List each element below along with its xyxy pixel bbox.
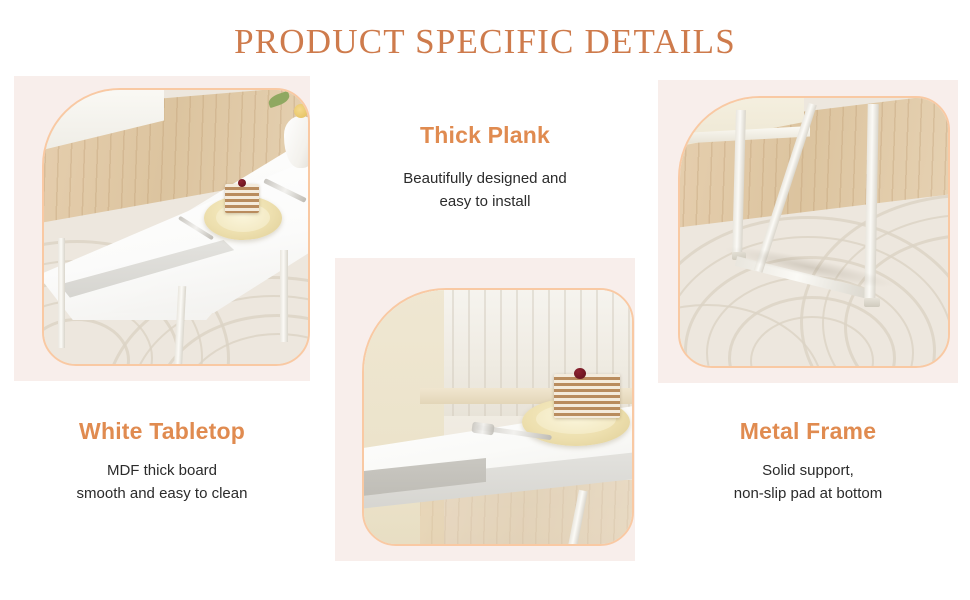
caption-body-line2: non-slip pad at bottom [734, 485, 882, 502]
caption-body-white-tabletop: MDF thick board smooth and easy to clean [14, 459, 310, 505]
caption-heading-thick-plank: Thick Plank [335, 122, 635, 149]
caption-body-thick-plank: Beautifully designed and easy to install [335, 167, 635, 213]
photo-metal-frame-content [680, 98, 948, 366]
caption-body-line2: smooth and easy to clean [77, 485, 248, 502]
cherry-topping [574, 368, 586, 379]
caption-heading-white-tabletop: White Tabletop [14, 418, 310, 445]
flower-bloom [294, 104, 308, 118]
caption-heading-metal-frame: Metal Frame [658, 418, 958, 445]
photo-white-tabletop [42, 88, 310, 366]
photo-metal-frame [678, 96, 950, 368]
caption-body-line1: MDF thick board [107, 462, 217, 479]
table-leg-left [58, 238, 65, 348]
photo-thick-plank [362, 288, 634, 546]
caption-body-line2: easy to install [440, 193, 531, 210]
caption-body-line1: Solid support, [762, 462, 854, 479]
infographic-page: PRODUCT SPECIFIC DETAILS [0, 0, 970, 600]
caption-body-line1: Beautifully designed and [403, 170, 566, 187]
photo-white-tabletop-content [44, 90, 308, 364]
cake-slice [554, 374, 620, 418]
non-slip-pad-right [864, 298, 880, 307]
table-leg-right [280, 250, 288, 342]
caption-white-tabletop: White Tabletop MDF thick board smooth an… [14, 418, 310, 505]
page-title: PRODUCT SPECIFIC DETAILS [0, 22, 970, 62]
cherry-topping [238, 179, 246, 187]
caption-thick-plank: Thick Plank Beautifully designed and eas… [335, 122, 635, 213]
caption-metal-frame: Metal Frame Solid support, non-slip pad … [658, 418, 958, 505]
photo-thick-plank-content [364, 290, 632, 544]
cake-slice [225, 184, 259, 213]
caption-body-metal-frame: Solid support, non-slip pad at bottom [658, 459, 958, 505]
